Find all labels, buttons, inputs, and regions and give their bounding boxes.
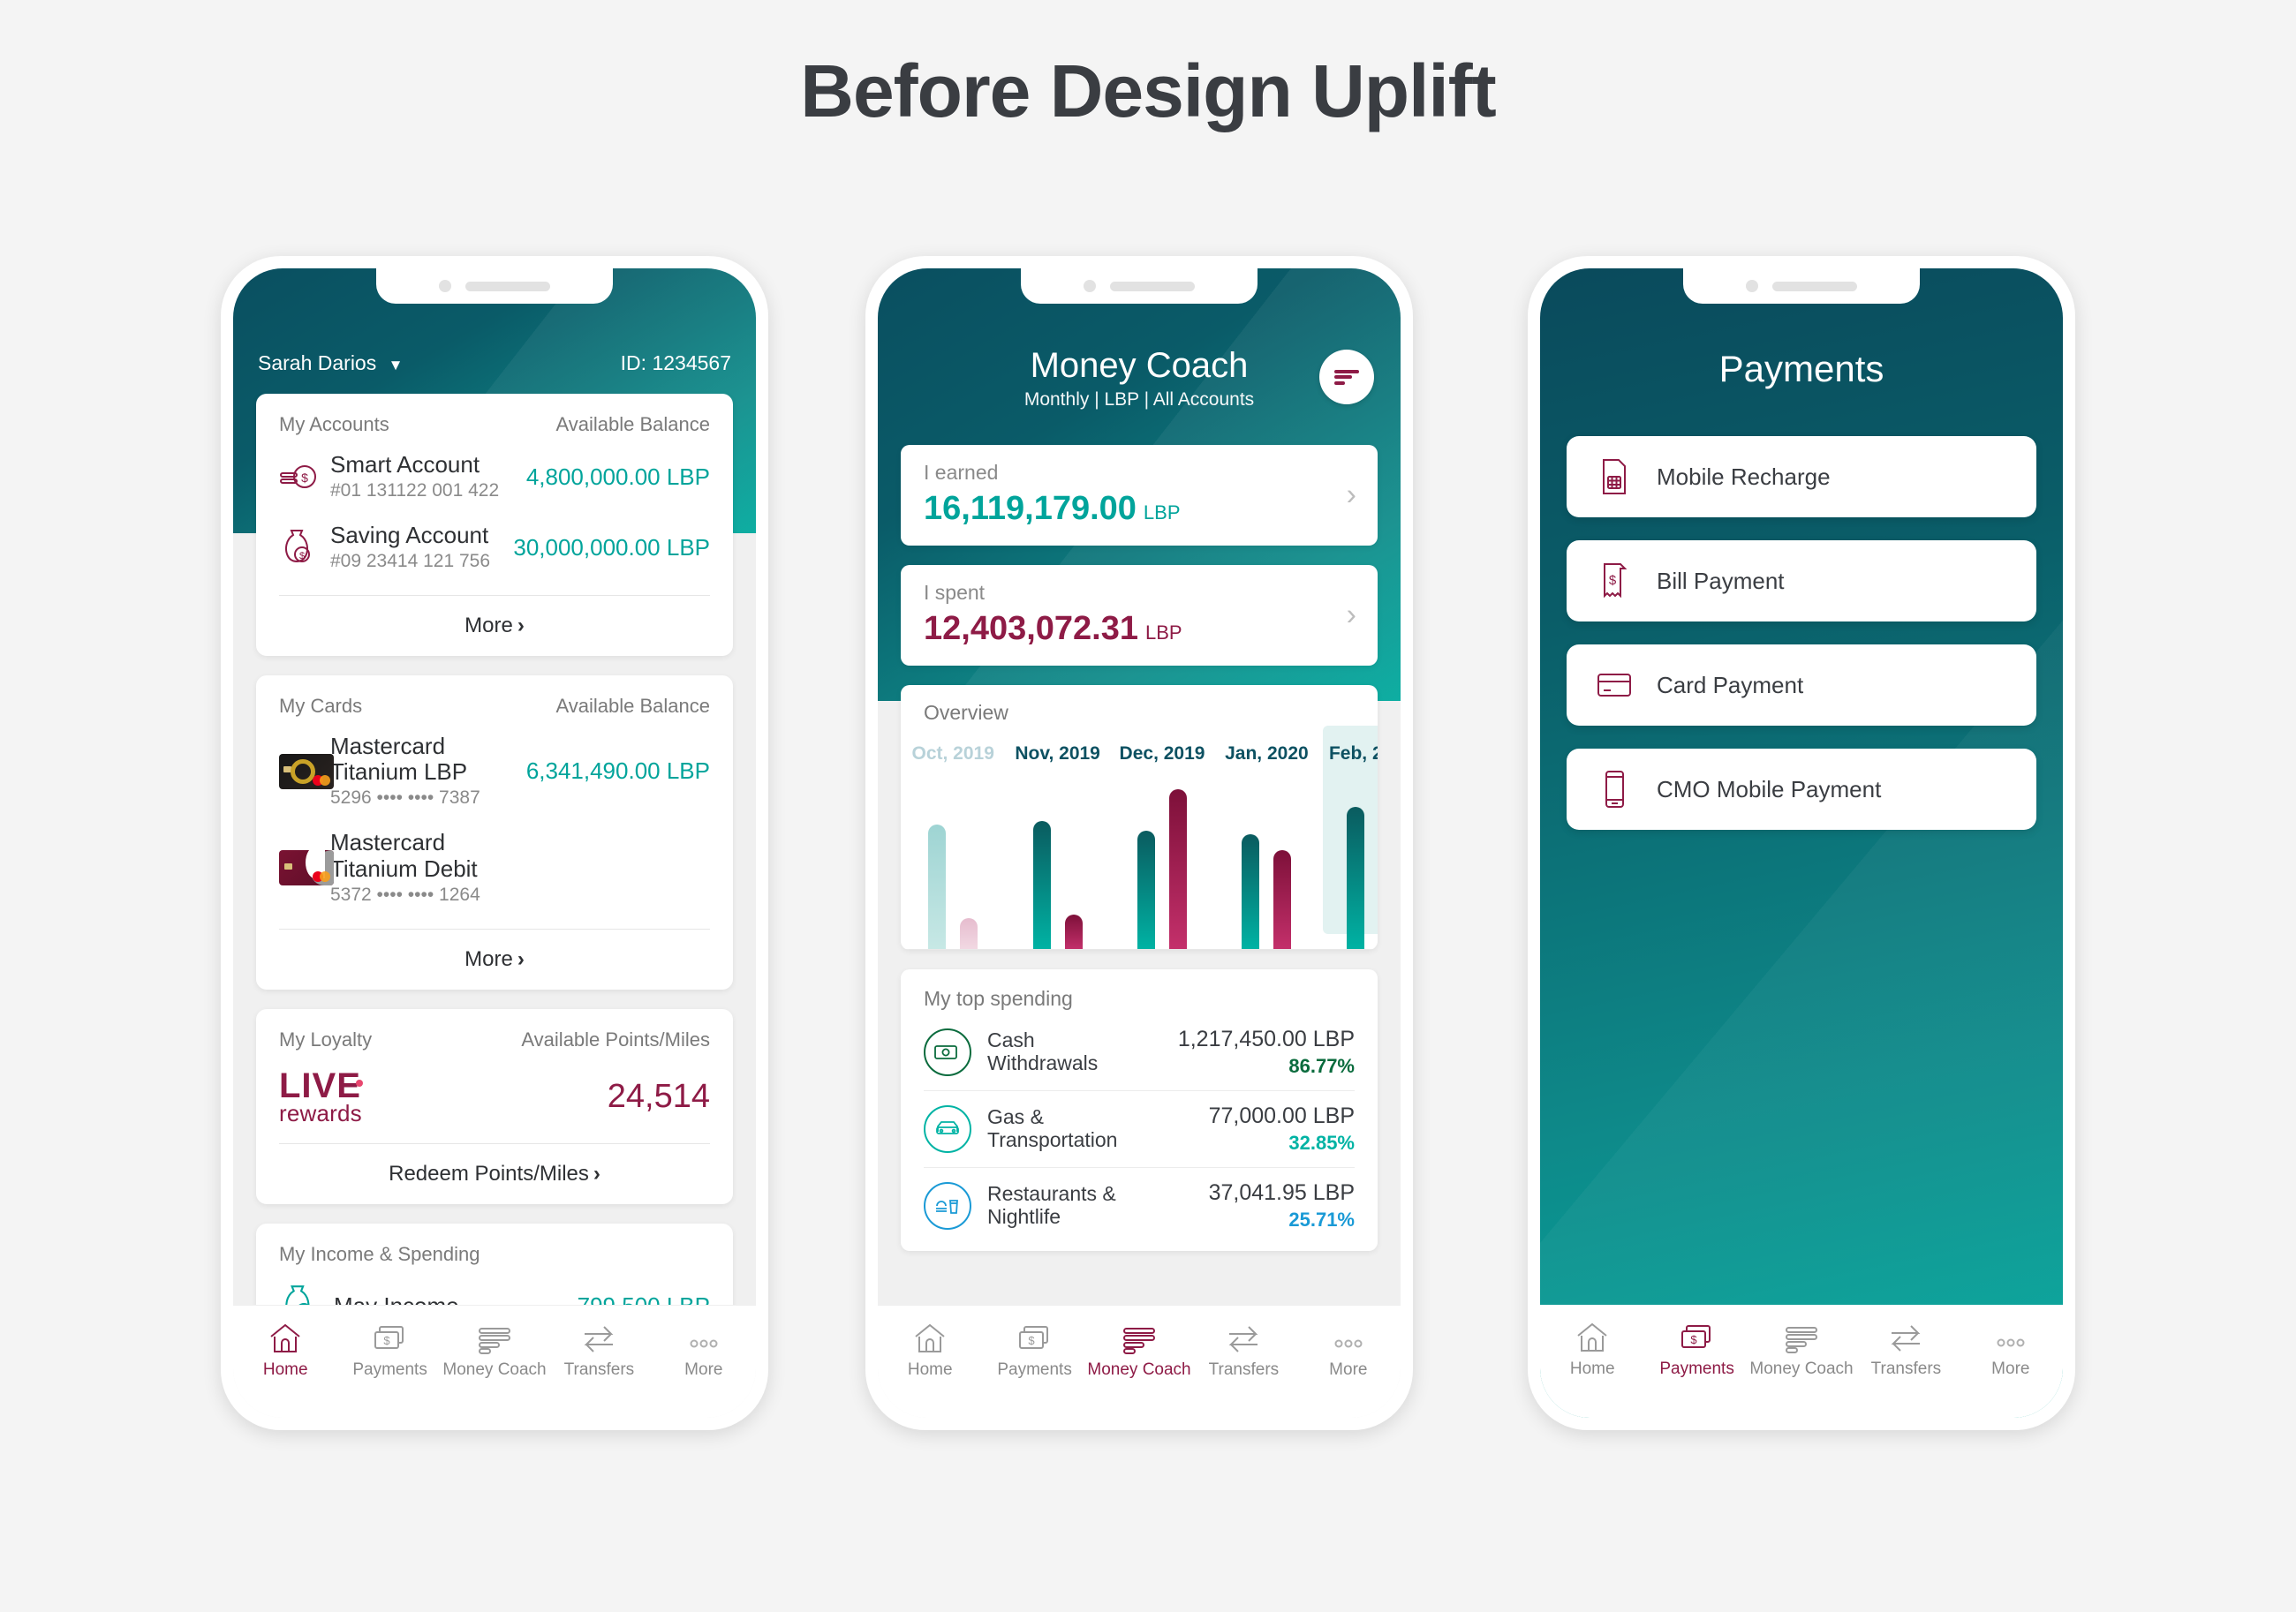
chart-bar-group [901, 789, 1005, 950]
available-points-label: Available Points/Miles [521, 1028, 710, 1051]
nav-label: Home [1570, 1360, 1615, 1379]
mobile-phone-icon [1591, 769, 1637, 810]
bar-spent [1273, 850, 1291, 950]
home-scroll-area[interactable]: My Accounts Available Balance $ Smart Ac… [233, 268, 756, 1418]
nav-label: Money Coach [1749, 1360, 1853, 1379]
card-number: 5372 •••• •••• 1264 [330, 885, 710, 906]
money-coach-scroll-area[interactable]: I earned 16,119,179.00LBP › I spent 12,4… [878, 268, 1401, 1418]
chevron-right-icon: › [593, 1162, 600, 1186]
card-name-line2: Titanium Debit [330, 856, 710, 882]
spending-row[interactable]: Gas &Transportation 77,000.00 LBP 32.85% [901, 1091, 1378, 1167]
bar-earned [1242, 834, 1259, 950]
bar-spent [1169, 789, 1187, 950]
camera-dot [1746, 280, 1758, 292]
nav-item-payments[interactable]: $ Payments [1644, 1317, 1748, 1379]
payment-item-label: Card Payment [1657, 672, 1803, 699]
earned-currency: LBP [1144, 501, 1181, 524]
chevron-right-icon: › [517, 947, 525, 971]
spending-percent: 25.71% [1209, 1209, 1355, 1232]
chart-month-label: Oct, 2019 [912, 743, 994, 765]
nav-item-payments[interactable]: $ Payments [337, 1318, 442, 1380]
account-name: Smart Account [330, 452, 526, 478]
svg-text:$: $ [1028, 1334, 1035, 1347]
payment-item-label: CMO Mobile Payment [1657, 776, 1881, 803]
account-row[interactable]: $ Smart Account #01 131122 001 422 4,800… [256, 440, 733, 510]
burger-drink-icon [924, 1182, 971, 1230]
nav-label: Home [263, 1360, 308, 1380]
spending-percent: 32.85% [1209, 1132, 1355, 1155]
account-row[interactable]: $ Saving Account #09 23414 121 756 30,00… [256, 510, 733, 581]
spending-name-line2: Withdrawals [987, 1052, 1178, 1075]
overview-bar-chart: Oct, 2019 Nov, 2019 Dec, 2019 Jan, 2020 … [901, 724, 1378, 950]
chevron-right-icon: › [517, 614, 525, 637]
payment-item-mobile-recharge[interactable]: Mobile Recharge [1567, 436, 2036, 517]
payments-title: Payments [1540, 348, 2063, 390]
available-balance-label: Available Balance [556, 695, 711, 718]
available-balance-label: Available Balance [556, 413, 711, 436]
money-coach-subtitle: Monthly | LBP | All Accounts [878, 389, 1401, 411]
sim-card-icon [1591, 457, 1637, 496]
nav-item-more[interactable]: More [1296, 1318, 1401, 1380]
nav-item-more[interactable]: More [1959, 1317, 2063, 1379]
account-number: #01 131122 001 422 [330, 480, 526, 501]
bill-receipt-icon: $ [1591, 561, 1637, 601]
phone-money-coach: Money Coach Monthly | LBP | All Accounts… [865, 256, 1413, 1430]
bar-spent [960, 918, 978, 950]
card-row[interactable]: Mastercard Titanium LBP 5296 •••• •••• 7… [256, 721, 733, 817]
my-cards-card: My Cards Available Balance Mastercard [256, 675, 733, 989]
bar-earned [1137, 831, 1155, 950]
account-balance: 30,000,000.00 LBP [513, 534, 710, 561]
bottom-nav: Home $ Payments [233, 1305, 756, 1418]
transfers-arrows-icon [579, 1318, 618, 1355]
camera-dot [439, 280, 451, 292]
page-title: Before Design Uplift [0, 49, 2296, 134]
phone-notch [1683, 268, 1920, 304]
chart-month[interactable]: Jan, 2020 [1214, 743, 1318, 773]
chevron-right-icon: › [1347, 478, 1356, 513]
nav-label: Payments [352, 1360, 427, 1380]
loyalty-points-value: 24,514 [608, 1078, 710, 1116]
chart-bar-group [1319, 789, 1378, 950]
car-icon [924, 1105, 971, 1153]
nav-item-transfers[interactable]: Transfers [1191, 1318, 1295, 1380]
bar-earned [928, 825, 946, 950]
accounts-more-button[interactable]: More› [256, 596, 733, 656]
home-icon [268, 1318, 303, 1355]
payment-item-card-payment[interactable]: Card Payment [1567, 644, 2036, 726]
spending-name-line1: Gas & [987, 1106, 1209, 1129]
transfers-arrows-icon [1224, 1318, 1263, 1355]
payment-item-label: Bill Payment [1657, 568, 1785, 595]
filter-icon [1334, 367, 1359, 387]
more-dots-icon [1329, 1318, 1368, 1355]
top-spending-title: My top spending [901, 969, 1378, 1014]
payments-list: Mobile Recharge $ Bill Payment [1540, 436, 2063, 853]
transfers-arrows-icon [1886, 1317, 1925, 1354]
nav-item-money-coach[interactable]: Money Coach [442, 1318, 547, 1380]
nav-item-money-coach[interactable]: Money Coach [1087, 1318, 1191, 1380]
phone-notch [1021, 268, 1258, 304]
cash-banknote-icon [924, 1028, 971, 1076]
card-row[interactable]: Mastercard Titanium Debit 5372 •••• ••••… [256, 817, 733, 914]
nav-item-home[interactable]: Home [233, 1318, 337, 1380]
my-accounts-title: My Accounts [279, 413, 389, 436]
chart-bars [901, 789, 1378, 950]
nav-label: Transfers [564, 1360, 635, 1380]
card-name-line1: Mastercard [330, 734, 526, 759]
nav-label: More [1991, 1360, 2029, 1379]
income-spending-header: My Income & Spending [256, 1224, 733, 1269]
money-bag-icon: $ [279, 528, 330, 567]
user-name-label: Sarah Darios [258, 351, 376, 374]
speaker-slot [1772, 282, 1857, 291]
nav-label: Money Coach [442, 1360, 546, 1380]
nav-label: More [684, 1360, 722, 1380]
card-balance: 6,341,490.00 LBP [526, 757, 710, 785]
payment-item-bill-payment[interactable]: $ Bill Payment [1567, 540, 2036, 621]
nav-label: Money Coach [1087, 1360, 1190, 1380]
filter-button[interactable] [1319, 350, 1374, 404]
home-icon [1575, 1317, 1610, 1354]
my-accounts-card: My Accounts Available Balance $ Smart Ac… [256, 394, 733, 656]
payments-cards-icon: $ [1016, 1318, 1054, 1355]
nav-item-more[interactable]: More [652, 1318, 756, 1380]
poster: Before Design Uplift Sarah Darios ▼ ID: … [0, 0, 2296, 1612]
payment-item-cmo-mobile-payment[interactable]: CMO Mobile Payment [1567, 749, 2036, 830]
phone-home: Sarah Darios ▼ ID: 1234567 My Accounts A… [221, 256, 768, 1430]
black-gold-card-art [279, 754, 334, 789]
bar-spent [1065, 915, 1083, 950]
card-thumbnail [279, 754, 330, 789]
overview-chart-card[interactable]: Overview Oct, 2019 Nov, 2019 Dec, 2019 J… [901, 685, 1378, 950]
nav-label: Transfers [1209, 1360, 1280, 1380]
nav-item-home[interactable]: Home [878, 1318, 982, 1380]
my-cards-title: My Cards [279, 695, 362, 718]
bottom-nav: Home $ Payments [1540, 1305, 2063, 1418]
payments-cards-icon: $ [1679, 1317, 1716, 1354]
spending-percent: 86.77% [1178, 1055, 1355, 1078]
chart-bar-group [1110, 789, 1214, 950]
earned-card[interactable]: I earned 16,119,179.00LBP › [901, 445, 1378, 546]
home-icon [912, 1318, 948, 1355]
nav-label: Payments [1659, 1360, 1733, 1379]
spending-name-line1: Cash [987, 1029, 1178, 1052]
money-coach-bars-icon [1120, 1318, 1159, 1355]
live-rewards-logo: LIVE rewards [279, 1069, 362, 1125]
camera-dot [1084, 280, 1096, 292]
spending-name-line2: Transportation [987, 1129, 1209, 1152]
spending-name-line1: Restaurants & [987, 1183, 1209, 1206]
spending-amount: 77,000.00 LBP [1209, 1104, 1355, 1129]
payments-cards-icon: $ [372, 1318, 409, 1355]
payment-item-label: Mobile Recharge [1657, 463, 1831, 491]
user-name-dropdown[interactable]: Sarah Darios ▼ [258, 351, 403, 375]
svg-text:$: $ [299, 551, 305, 561]
nav-item-payments[interactable]: $ Payments [982, 1318, 1086, 1380]
nav-label: Transfers [1871, 1360, 1942, 1379]
more-label: More [464, 614, 513, 637]
card-name-line2: Titanium LBP [330, 759, 526, 785]
nav-item-home[interactable]: Home [1540, 1317, 1644, 1379]
spending-amount: 37,041.95 LBP [1209, 1180, 1355, 1206]
spent-label: I spent [924, 581, 1355, 605]
nav-label: Payments [997, 1360, 1071, 1380]
chart-month-label: Jan, 2020 [1225, 743, 1309, 765]
spending-row[interactable]: CashWithdrawals 1,217,450.00 LBP 86.77% [901, 1014, 1378, 1090]
redeem-label: Redeem Points/Miles [389, 1162, 589, 1186]
more-dots-icon [1991, 1317, 2030, 1354]
svg-text:$: $ [1690, 1333, 1697, 1346]
live-logo-line1: LIVE [279, 1066, 361, 1105]
my-accounts-header: My Accounts Available Balance [256, 394, 733, 440]
redeem-points-button[interactable]: Redeem Points/Miles› [256, 1144, 733, 1204]
speaker-slot [1110, 282, 1195, 291]
nav-item-money-coach[interactable]: Money Coach [1749, 1317, 1854, 1379]
loyalty-row: LIVE rewards 24,514 [256, 1055, 733, 1130]
money-coach-bars-icon [1782, 1317, 1821, 1354]
speaker-slot [465, 282, 550, 291]
my-loyalty-card: My Loyalty Available Points/Miles LIVE r… [256, 1009, 733, 1205]
svg-text:$: $ [301, 471, 308, 485]
nav-label: More [1329, 1360, 1367, 1380]
chart-month[interactable]: Nov, 2019 [1005, 743, 1109, 773]
phone-money-coach-screen: Money Coach Monthly | LBP | All Accounts… [878, 268, 1401, 1418]
spending-name-line2: Nightlife [987, 1206, 1209, 1229]
spending-amount: 1,217,450.00 LBP [1178, 1027, 1355, 1052]
chevron-right-icon: › [1347, 599, 1356, 633]
card-number: 5296 •••• •••• 7387 [330, 787, 526, 809]
my-loyalty-header: My Loyalty Available Points/Miles [256, 1009, 733, 1055]
chart-bar-group [1005, 789, 1109, 950]
svg-text:$: $ [1609, 573, 1617, 588]
account-balance: 4,800,000.00 LBP [526, 463, 710, 491]
money-coach-bars-icon [475, 1318, 514, 1355]
coins-dollar-icon: $ [279, 459, 330, 494]
account-number: #09 23414 121 756 [330, 551, 513, 572]
cards-more-button[interactable]: More› [256, 930, 733, 990]
income-spending-title: My Income & Spending [279, 1243, 480, 1266]
live-logo-line2: rewards [279, 1103, 362, 1125]
chevron-down-icon: ▼ [389, 357, 404, 373]
chart-month[interactable]: Dec, 2019 [1110, 743, 1214, 773]
more-dots-icon [684, 1318, 723, 1355]
chart-month-label: Dec, 2019 [1120, 743, 1205, 765]
chart-bar-group [1214, 789, 1318, 950]
card-name-line1: Mastercard [330, 830, 710, 855]
bar-earned [1033, 821, 1051, 950]
phone-home-screen: Sarah Darios ▼ ID: 1234567 My Accounts A… [233, 268, 756, 1418]
nav-label: Home [908, 1360, 953, 1380]
home-topbar: Sarah Darios ▼ ID: 1234567 [233, 351, 756, 375]
spending-row[interactable]: Restaurants &Nightlife 37,041.95 LBP 25.… [901, 1168, 1378, 1244]
card-thumbnail [279, 850, 330, 885]
bar-earned [1347, 807, 1364, 950]
credit-card-icon [1591, 671, 1637, 699]
chart-baseline [901, 949, 1378, 950]
overview-title: Overview [901, 685, 1378, 725]
my-cards-header: My Cards Available Balance [256, 675, 733, 721]
spent-currency: LBP [1145, 621, 1182, 644]
spent-amount: 12,403,072.31 [924, 610, 1138, 647]
customer-id: ID: 1234567 [621, 351, 731, 375]
nav-item-transfers[interactable]: Transfers [547, 1318, 651, 1380]
chart-month-label: Feb, 2020 [1329, 743, 1378, 765]
nav-item-transfers[interactable]: Transfers [1854, 1317, 1958, 1379]
spent-card[interactable]: I spent 12,403,072.31LBP › [901, 565, 1378, 666]
chart-month[interactable]: Oct, 2019 [901, 743, 1005, 773]
phone-notch [376, 268, 613, 304]
chart-month-selected[interactable]: Feb, 2020 [1319, 743, 1378, 773]
svg-text:$: $ [383, 1334, 390, 1347]
top-spending-card: My top spending CashWithdrawals 1,217,45… [901, 969, 1378, 1251]
chart-month-label: Nov, 2019 [1015, 743, 1100, 765]
phone-payments-screen: Payments Mobile Recharge $ [1540, 268, 2063, 1418]
chart-month-labels: Oct, 2019 Nov, 2019 Dec, 2019 Jan, 2020 … [901, 743, 1378, 773]
more-label: More [464, 947, 513, 971]
earned-amount: 16,119,179.00 [924, 490, 1137, 527]
maroon-card-art [279, 850, 334, 885]
bottom-nav: Home $ Payments [878, 1305, 1401, 1418]
my-loyalty-title: My Loyalty [279, 1028, 372, 1051]
earned-label: I earned [924, 461, 1355, 485]
account-name: Saving Account [330, 523, 513, 548]
phone-payments: Payments Mobile Recharge $ [1528, 256, 2075, 1430]
